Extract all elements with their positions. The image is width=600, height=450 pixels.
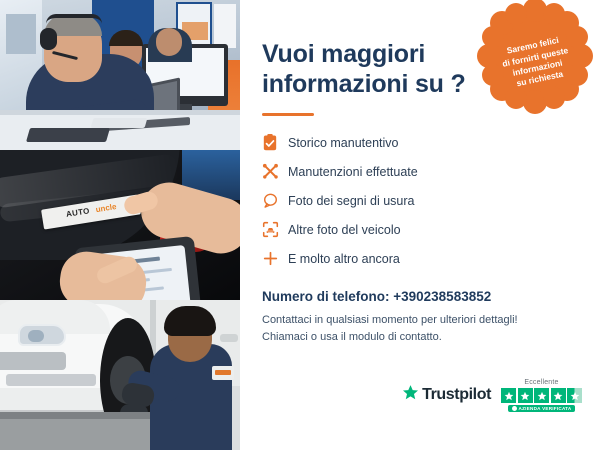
verified-business-label: AZIENDA VERIFICATA	[519, 406, 572, 411]
promo-banner: AUTOuncle	[0, 0, 600, 450]
trustpilot-star-icon	[402, 384, 419, 406]
contact-subtext: Contattaci in qualsiasi momento per ulte…	[262, 312, 576, 346]
trustpilot-rating-label: Eccellente	[524, 379, 558, 386]
star-filled	[518, 388, 533, 403]
photo-mechanic-inspection	[0, 300, 240, 450]
trustpilot-rating: Eccellente	[501, 379, 582, 412]
title-underline	[262, 113, 314, 116]
list-item-label: Manutenzioni effettuate	[288, 165, 418, 179]
info-badge-text: Saremo felici di fornirti queste informa…	[499, 33, 574, 92]
star-half	[567, 388, 582, 403]
trustpilot-name: Trustpilot	[422, 386, 491, 404]
trustpilot-brand: Trustpilot	[402, 384, 491, 412]
trustpilot-widget[interactable]: Trustpilot Eccellente	[402, 379, 582, 412]
list-item: Foto dei segni di usura	[262, 186, 576, 215]
feature-list: Storico manutentivo Manutenzi	[262, 128, 576, 273]
list-item: Storico manutentivo	[262, 128, 576, 157]
list-item: E molto altro ancora	[262, 244, 576, 273]
info-badge: Saremo felici di fornirti queste informa…	[476, 0, 594, 115]
plus-icon	[262, 250, 288, 267]
star-filled	[534, 388, 549, 403]
clipboard-check-icon	[262, 134, 288, 151]
verified-business-badge: AZIENDA VERIFICATA	[508, 405, 576, 412]
list-item-label: Altre foto del veicolo	[288, 223, 401, 237]
star-filled	[551, 388, 566, 403]
list-item-label: Storico manutentivo	[288, 136, 398, 150]
star-filled	[501, 388, 516, 403]
content-panel: Saremo felici di fornirti queste informa…	[240, 0, 600, 450]
list-item-label: E molto altro ancora	[288, 252, 400, 266]
check-dot-icon	[512, 406, 517, 411]
phone-line: Numero di telefono: +390238583852	[262, 289, 576, 304]
speech-bubble-icon	[262, 192, 288, 209]
photo-column: AUTOuncle	[0, 0, 240, 450]
list-item: Manutenzioni effettuate	[262, 157, 576, 186]
car-frame-icon	[262, 221, 288, 238]
photo-call-center	[0, 0, 240, 150]
trustpilot-stars	[501, 388, 582, 403]
photo-sticker-on-car: AUTOuncle	[0, 150, 240, 300]
list-item-label: Foto dei segni di usura	[288, 194, 414, 208]
list-item: Altre foto del veicolo	[262, 215, 576, 244]
tools-cross-icon	[262, 163, 288, 180]
